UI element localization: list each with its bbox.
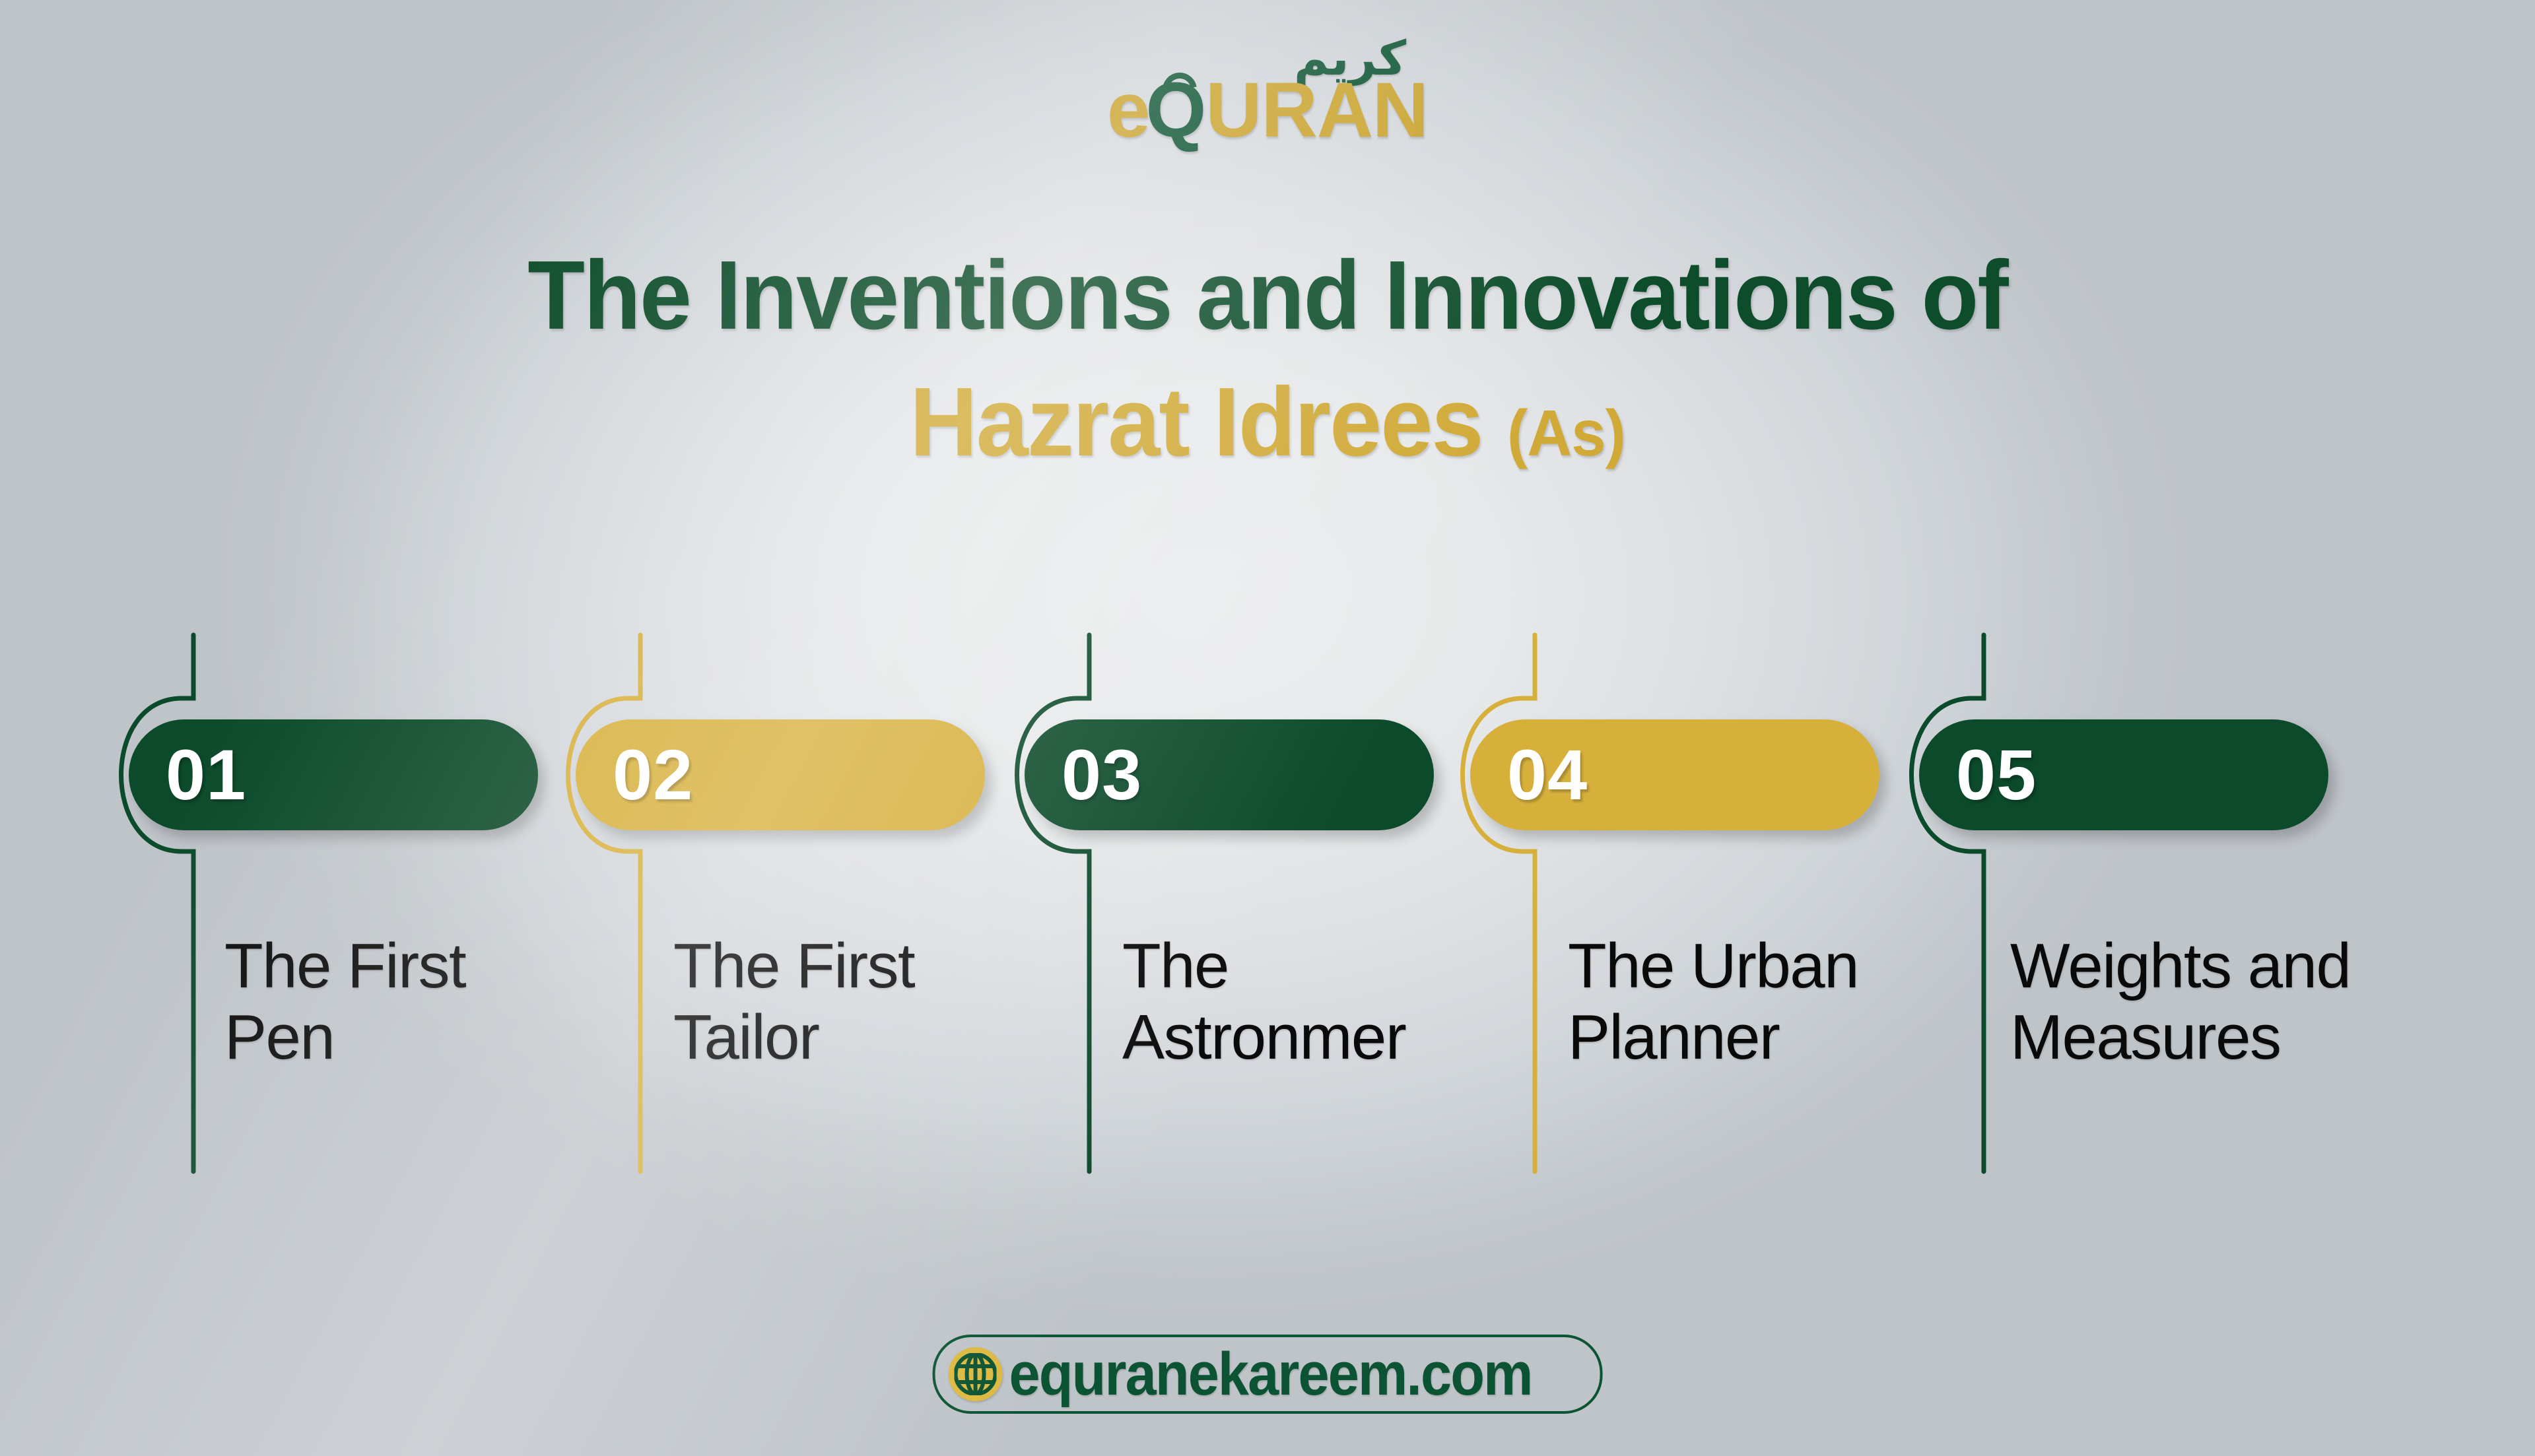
timeline-number-pill[interactable]: 02	[576, 719, 985, 830]
timeline-number: 01	[166, 739, 246, 811]
timeline-number-pill[interactable]: 05	[1919, 719, 2328, 830]
timeline-number: 03	[1062, 739, 1142, 811]
timeline-number-pill[interactable]: 01	[129, 719, 538, 830]
timeline-connector-line	[541, 635, 713, 1176]
timeline-number: 05	[1956, 739, 2037, 811]
website-url: equranekareem.com	[1009, 1344, 1532, 1405]
timeline-item-label: The Astronmer	[1122, 931, 1479, 1074]
timeline: 01The First Pen02The First Tailor03The A…	[0, 0, 2535, 1456]
timeline-item-label: The First Pen	[224, 931, 568, 1074]
timeline-item-label: The First Tailor	[673, 931, 1017, 1074]
timeline-number-pill[interactable]: 03	[1025, 719, 1434, 830]
website-badge[interactable]: equranekareem.com	[933, 1335, 1603, 1414]
timeline-connector-line	[1885, 635, 2056, 1176]
timeline-number-pill[interactable]: 04	[1470, 719, 1879, 830]
globe-icon	[949, 1347, 1003, 1401]
timeline-item-label: Weights and Measures	[2010, 931, 2380, 1074]
timeline-connector-line	[1436, 635, 1607, 1176]
infographic-canvas: كريم e Q URAN The Inventions and Innovat…	[0, 0, 2535, 1456]
timeline-item-label: The Urban Planner	[1568, 931, 1924, 1074]
timeline-connector-line	[990, 635, 1162, 1176]
timeline-connector-line	[94, 635, 266, 1176]
timeline-number: 04	[1507, 739, 1588, 811]
timeline-number: 02	[613, 739, 693, 811]
